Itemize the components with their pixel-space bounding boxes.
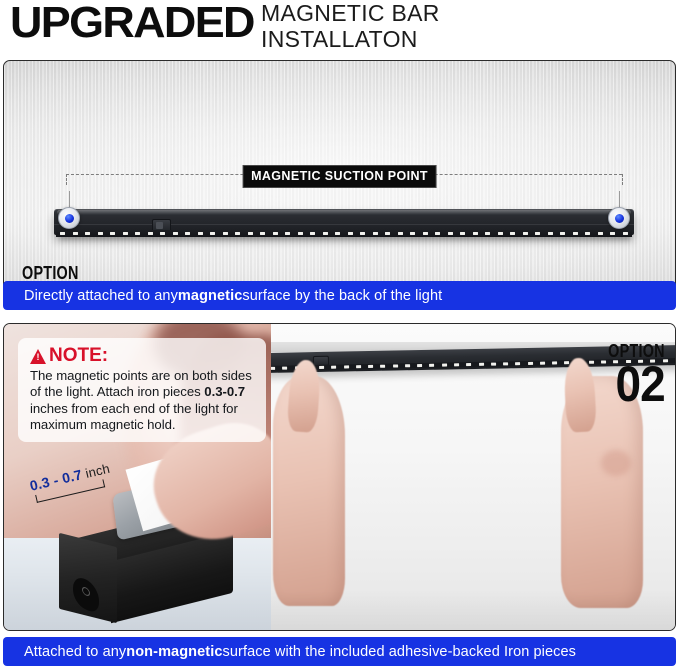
led-dot: [135, 232, 140, 236]
banner-2-text-bold: non-magnetic: [126, 644, 222, 660]
led-dot: [160, 232, 165, 236]
led-dot: [210, 232, 215, 236]
banner-2-text-before: Attached to any: [24, 644, 126, 660]
knuckle-shadow: [601, 450, 631, 476]
led-dot: [368, 365, 373, 368]
header-title: UPGRADED: [10, 1, 254, 45]
thumb-right: [563, 357, 597, 432]
led-dot: [248, 232, 253, 236]
option-1-caption-banner: Directly attached to any magnetic surfac…: [3, 281, 676, 310]
led-dot: [503, 362, 508, 365]
led-dot: [123, 232, 128, 236]
led-dot: [393, 364, 398, 367]
led-dot: [98, 232, 103, 236]
header-subtitle-line1: MAGNETIC BAR: [261, 1, 440, 27]
led-dot: [271, 367, 275, 370]
led-dot: [560, 232, 565, 236]
led-dot: [360, 232, 365, 236]
led-dot: [479, 363, 484, 366]
led-dot: [73, 232, 78, 236]
led-dot: [335, 232, 340, 236]
led-dot: [410, 232, 415, 236]
light-bar-sheen: [57, 210, 631, 215]
magnet-leader-left: [69, 191, 70, 208]
led-dot: [298, 232, 303, 236]
note-body-bold: 0.3-0.7: [204, 384, 245, 399]
led-dot: [473, 232, 478, 236]
led-dot: [331, 366, 336, 369]
led-dot: [285, 232, 290, 236]
light-bar-front-face: [59, 533, 117, 623]
option-2-label: OPTION 02: [594, 342, 665, 407]
led-dot: [185, 232, 190, 236]
led-dot: [454, 363, 459, 366]
banner-2-text-after: surface with the included adhesive-backe…: [223, 644, 577, 660]
led-dot: [535, 232, 540, 236]
led-dot: [380, 365, 385, 368]
option-2-caption-banner: Attached to any non-magnetic surface wit…: [3, 637, 676, 666]
led-dot: [552, 361, 557, 364]
note-body-part2: inches from each end of the light for ma…: [30, 401, 238, 432]
led-strip: [56, 230, 632, 237]
led-dot: [573, 232, 578, 236]
led-dot: [198, 232, 203, 236]
led-dot: [348, 232, 353, 236]
led-dot: [356, 365, 361, 368]
callout-tick-right: [622, 174, 623, 185]
callout-tick-left: [66, 174, 67, 185]
led-dot: [610, 232, 615, 236]
led-dot: [398, 232, 403, 236]
page-header: UPGRADED MAGNETIC BAR INSTALLATON: [0, 0, 679, 56]
led-dot: [448, 232, 453, 236]
led-dot: [385, 232, 390, 236]
led-dot: [417, 364, 422, 367]
magnet-point-right: [608, 207, 630, 229]
led-dot: [598, 232, 603, 236]
led-dot: [585, 232, 590, 236]
led-dot: [273, 232, 278, 236]
note-callout-box: NOTE: The magnetic points are on both si…: [18, 338, 266, 442]
led-dot: [85, 232, 90, 236]
light-bar-port: [73, 573, 99, 616]
led-dot: [173, 232, 178, 236]
led-dot: [548, 232, 553, 236]
led-dot: [523, 232, 528, 236]
led-dot: [148, 232, 153, 236]
led-dot: [405, 364, 410, 367]
light-bar-body: [54, 209, 634, 235]
led-dot: [223, 232, 228, 236]
light-bar-groove: [54, 224, 634, 225]
led-dot: [60, 232, 65, 236]
led-dot: [110, 232, 115, 236]
note-body: The magnetic points are on both sides of…: [30, 368, 256, 434]
led-dot: [235, 232, 240, 236]
led-dot: [466, 363, 471, 366]
option-2-number: 02: [600, 361, 665, 407]
led-dot: [319, 366, 324, 369]
wall-shadow: [271, 590, 676, 630]
led-dot: [429, 364, 434, 367]
option-1-panel: MAGNETIC SUCTION POINT OPTION 01: [3, 60, 676, 310]
magnetic-suction-point-label: MAGNETIC SUCTION POINT: [242, 165, 437, 188]
led-dot: [498, 232, 503, 236]
led-dot: [435, 232, 440, 236]
banner-1-text-before: Directly attached to any: [24, 288, 178, 304]
led-dot: [510, 232, 515, 236]
banner-1-text-bold: magnetic: [178, 288, 242, 304]
led-dot: [623, 232, 628, 236]
magnet-point-left: [58, 207, 80, 229]
led-dot: [675, 359, 676, 362]
led-dot: [423, 232, 428, 236]
note-title: NOTE:: [30, 346, 256, 366]
led-dot: [528, 362, 533, 365]
led-dot: [442, 364, 447, 367]
led-dot: [282, 367, 287, 370]
led-dot: [485, 232, 490, 236]
led-dot: [460, 232, 465, 236]
note-title-text: NOTE:: [49, 346, 108, 366]
header-subtitle: MAGNETIC BAR INSTALLATON: [261, 1, 440, 52]
infographic-page: UPGRADED MAGNETIC BAR INSTALLATON MAGNET…: [0, 0, 679, 671]
warning-triangle-icon: [30, 349, 46, 364]
led-dot: [373, 232, 378, 236]
led-dot: [260, 232, 265, 236]
magnet-leader-right: [619, 191, 620, 208]
led-light-bar: [54, 207, 634, 247]
led-dot: [344, 365, 349, 368]
led-dot: [323, 232, 328, 236]
header-subtitle-line2: INSTALLATON: [261, 27, 440, 53]
led-dot: [491, 363, 496, 366]
led-dot: [515, 362, 520, 365]
led-dot: [540, 362, 545, 365]
banner-1-text-after: surface by the back of the light: [242, 288, 442, 304]
led-dot: [310, 232, 315, 236]
